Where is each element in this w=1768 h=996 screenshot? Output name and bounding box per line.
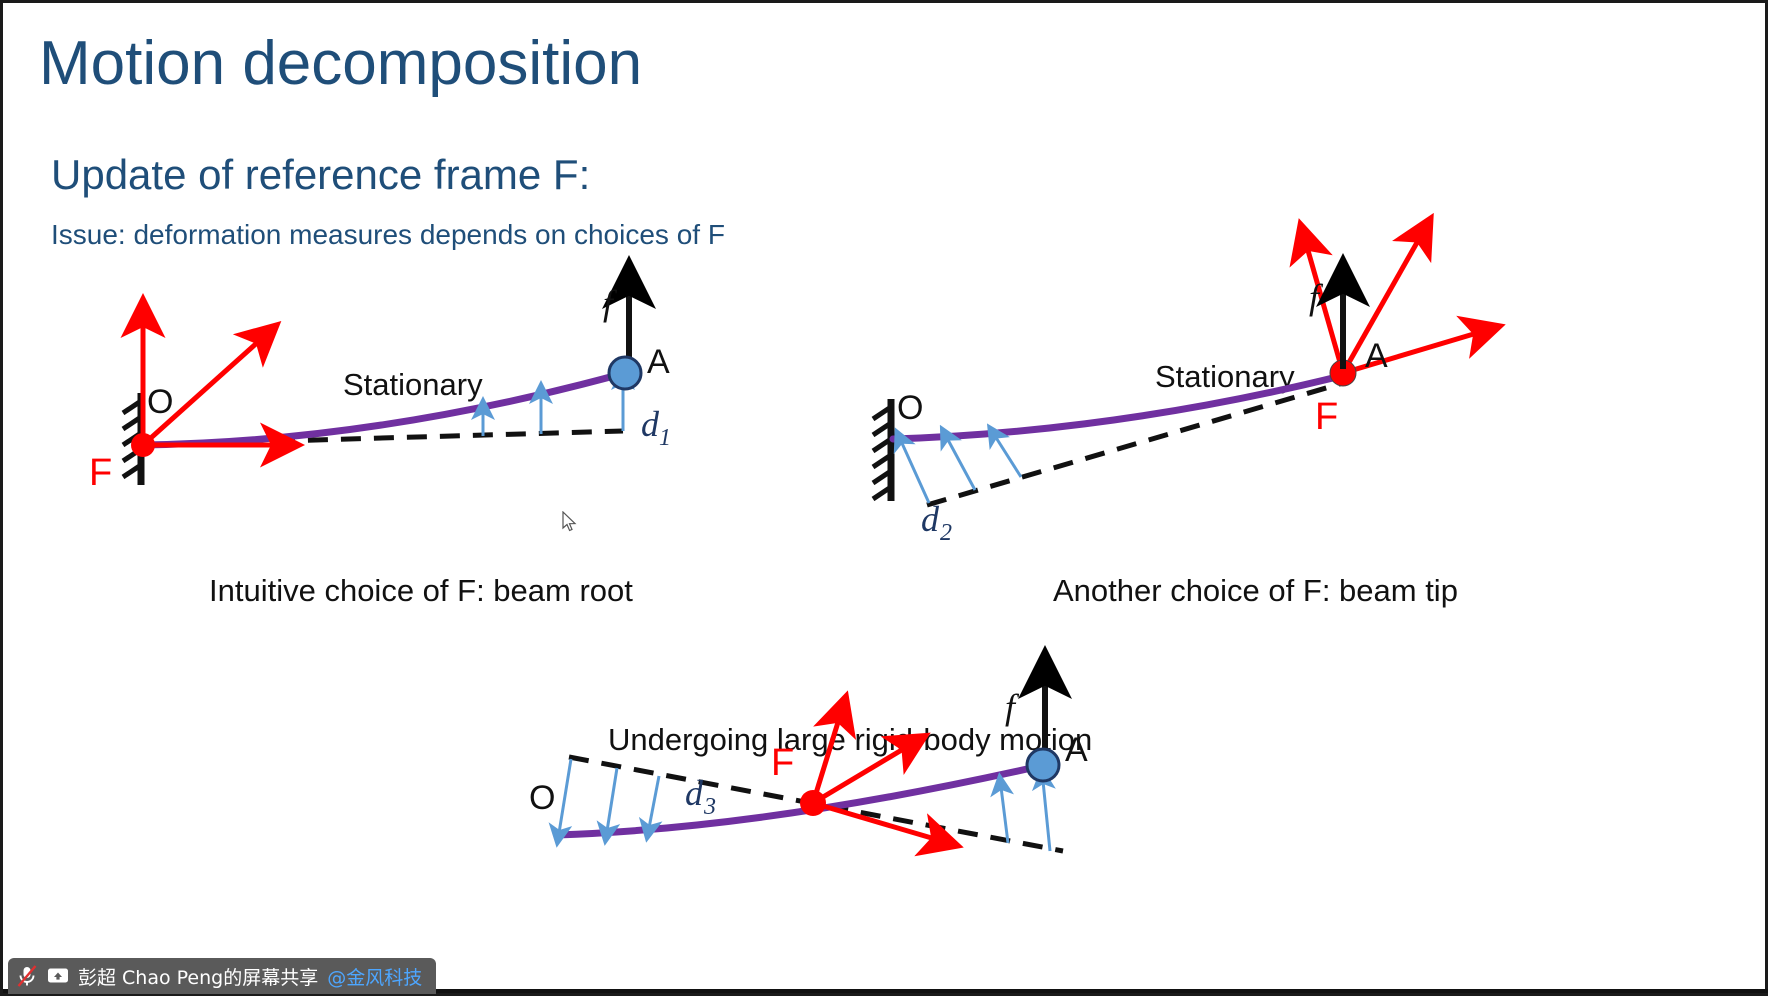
frame-label-bottom: F <box>771 742 794 784</box>
beam-tip-node-bottom <box>1027 749 1059 781</box>
issue-statement: Issue: deformation measures depends on c… <box>51 219 725 251</box>
mouse-pointer-icon <box>562 511 578 533</box>
deflection-sub-left: 1 <box>659 425 671 451</box>
undeformed-axis-right <box>927 383 1343 505</box>
origin-label-left: O <box>147 383 173 421</box>
deflection-arrows-bottom-right <box>1001 781 1050 851</box>
deflection-label-right: d <box>921 499 940 539</box>
screen-share-icon[interactable] <box>47 967 69 985</box>
tip-label-left: A <box>647 343 670 381</box>
deflection-sub-right: 2 <box>940 520 952 546</box>
deflection-label-bottom: d <box>685 773 704 813</box>
left-figure-caption: Intuitive choice of F: beam root <box>209 573 633 609</box>
section-subtitle: Update of reference frame F: <box>51 151 590 199</box>
page-title: Motion decomposition <box>39 31 642 96</box>
share-bar-handle: @金风科技 <box>327 963 422 990</box>
right-figure-caption: Another choice of F: beam tip <box>1053 573 1458 609</box>
wall-support-icon <box>873 399 891 501</box>
tip-label-right: A <box>1365 337 1388 375</box>
deformed-beam-right <box>893 375 1345 439</box>
right-beam-diagram: O F A f d 2 <box>903 233 1523 553</box>
origin-label-bottom: O <box>529 779 555 817</box>
force-label-left: f <box>603 283 618 323</box>
share-bar-text: 彭超 Chao Peng的屏幕共享 <box>78 963 318 990</box>
screen-share-bar[interactable]: 彭超 Chao Peng的屏幕共享 @金风科技 <box>8 958 436 994</box>
frame-axes-right <box>1307 239 1477 386</box>
origin-label-right: O <box>897 389 923 427</box>
left-beam-diagram: O F A f d 1 <box>63 253 703 533</box>
deflection-label-left: d <box>641 404 660 444</box>
frame-label-right: F <box>1315 396 1338 438</box>
presentation-slide: Motion decomposition Update of reference… <box>0 0 1768 996</box>
mic-muted-icon[interactable] <box>16 964 38 988</box>
frame-label-left: F <box>89 452 112 494</box>
force-label-bottom: f <box>1005 687 1020 727</box>
beam-tip-node-left <box>609 357 641 389</box>
bottom-beam-diagram: O F A f d 3 <box>563 743 1203 963</box>
tip-label-bottom: A <box>1065 731 1088 769</box>
deflection-sub-bottom: 3 <box>703 794 716 820</box>
